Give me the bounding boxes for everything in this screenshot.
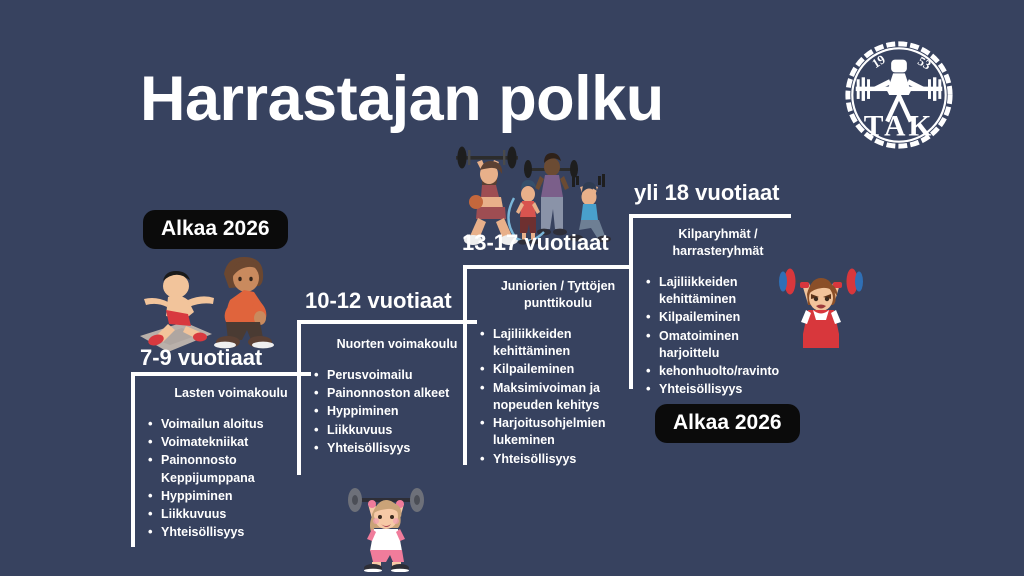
stage-title-10-12: 10-12 vuotiaat <box>305 288 452 314</box>
list-item: Harjoitusohjelmien lukeminen <box>478 415 638 450</box>
squatting-coach-illustration <box>206 252 278 356</box>
bracket-top-rule <box>629 214 791 218</box>
stage-list-7-9: Voimailun aloitus Voimatekniikat Painonn… <box>146 416 316 542</box>
stage-content-13-17: Juniorien / Tyttöjen punttikoulu Lajilii… <box>478 278 638 469</box>
bracket-top-rule <box>297 320 477 324</box>
list-item: Voimatekniikat <box>146 434 316 451</box>
stage-list-13-17: Lajiliikkeiden kehittäminen Kilpailemine… <box>478 326 638 468</box>
stage-title-yli-18: yli 18 vuotiaat <box>634 180 780 206</box>
bracket-left-rail <box>463 265 467 465</box>
list-item: Kilpaileminen <box>644 309 792 326</box>
young-girl-overhead-press-illustration <box>334 484 438 572</box>
list-item: Liikkuvuus <box>312 422 482 439</box>
stage-title-7-9: 7-9 vuotiaat <box>140 345 262 371</box>
badge-alkaa-2026-left: Alkaa 2026 <box>143 210 288 249</box>
list-item: Hyppiminen <box>312 403 482 420</box>
logo-letters: TAK <box>864 110 935 142</box>
list-item: Kilpaileminen <box>478 361 638 378</box>
logo-year-right: 53 <box>915 54 933 73</box>
list-item: Maksimivoiman ja nopeuden kehitys <box>478 380 638 415</box>
tak-weightlifting-club-logo: 19 53 TAK <box>840 36 958 154</box>
list-item: Yhteisöllisyys <box>478 451 638 468</box>
badge-alkaa-2026-right: Alkaa 2026 <box>655 404 800 443</box>
list-item: Painonnoston alkeet <box>312 385 482 402</box>
list-item: Yhteisöllisyys <box>644 381 792 398</box>
stage-group-name-yli-18: Kilparyhmät / harrasteryhmät <box>644 226 792 260</box>
bracket-top-rule <box>463 265 631 269</box>
list-item: Omatoiminen harjoittelu <box>644 328 792 363</box>
logo-year-left: 19 <box>870 52 888 71</box>
bracket-left-rail <box>297 320 301 475</box>
list-item: kehonhuolto/ravinto <box>644 363 792 380</box>
stage-group-name-13-17: Juniorien / Tyttöjen punttikoulu <box>478 278 638 312</box>
stage-content-7-9: Lasten voimakoulu Voimailun aloitus Voim… <box>146 385 316 543</box>
stage-list-yli-18: Lajiliikkeiden kehittäminen Kilpailemine… <box>644 274 792 399</box>
stage-title-13-17: 13-17 vuotiaat <box>462 230 609 256</box>
list-item: Lajiliikkeiden kehittäminen <box>644 274 792 309</box>
list-item: Hyppiminen <box>146 488 316 505</box>
list-item: Yhteisöllisyys <box>146 524 316 541</box>
stage-list-10-12: Perusvoimailu Painonnoston alkeet Hyppim… <box>312 367 482 457</box>
list-item: Liikkuvuus <box>146 506 316 523</box>
list-item: Lajiliikkeiden kehittäminen <box>478 326 638 361</box>
bracket-left-rail <box>131 372 135 547</box>
bracket-top-rule <box>131 372 311 376</box>
list-item: Voimailun aloitus <box>146 416 316 433</box>
stage-content-10-12: Nuorten voimakoulu Perusvoimailu Painonn… <box>312 336 482 458</box>
stage-content-yli-18: Kilparyhmät / harrasteryhmät Lajiliikkei… <box>644 226 792 400</box>
list-item: Painonnosto Keppijumppana <box>146 452 316 487</box>
infographic-canvas: Harrastajan polku <box>0 0 1024 576</box>
page-title: Harrastajan polku <box>140 63 664 135</box>
list-item: Yhteisöllisyys <box>312 440 482 457</box>
stage-group-name-10-12: Nuorten voimakoulu <box>312 336 482 353</box>
stage-group-name-7-9: Lasten voimakoulu <box>146 385 316 402</box>
bracket-left-rail <box>629 214 633 389</box>
list-item: Perusvoimailu <box>312 367 482 384</box>
